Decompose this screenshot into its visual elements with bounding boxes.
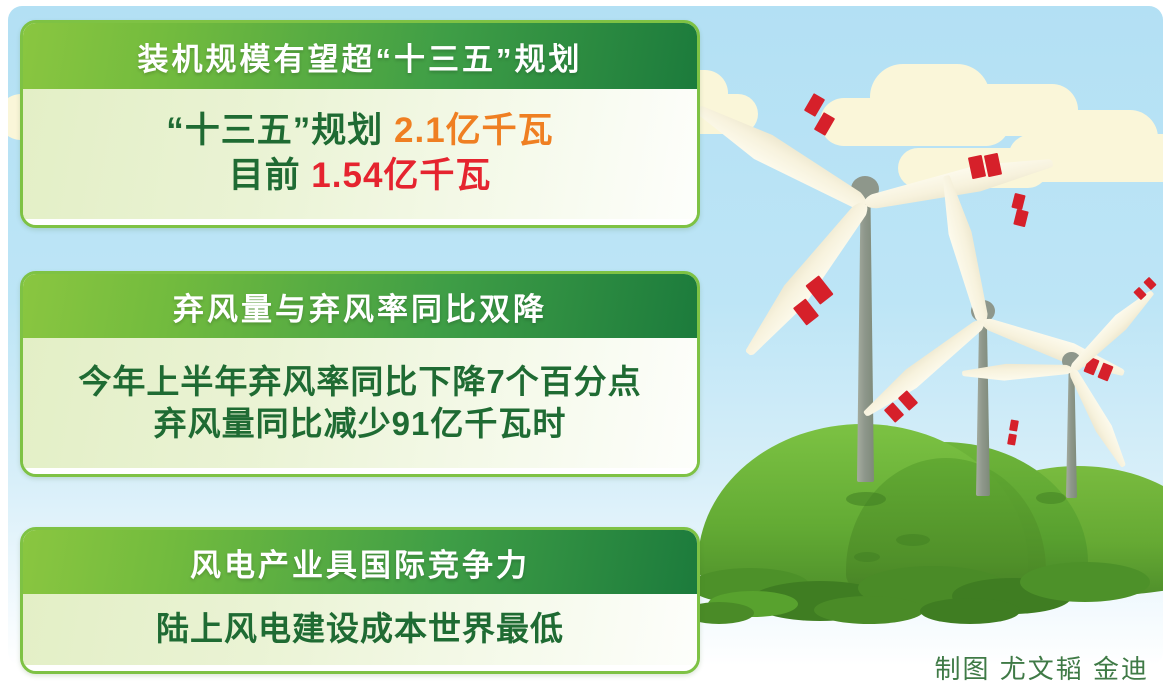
credit-text: 制图 尤文韬 金迪 <box>935 649 1149 686</box>
turbine-blade <box>1065 285 1159 377</box>
turbine-blade <box>962 360 1073 383</box>
infographic-root: 制图 尤文韬 金迪 装机规模有望超“十三五”规划 “十三五”规划 2.1亿千瓦 … <box>0 0 1171 694</box>
card-line: “十三五”规划 2.1亿千瓦 <box>166 109 553 154</box>
blade-stripe <box>1009 419 1019 431</box>
card-title: 装机规模有望超“十三五”规划 <box>23 23 697 89</box>
stat-card-curtailment: 弃风量与弃风率同比双降 今年上半年弃风率同比下降7个百分点 弃风量同比减少91亿… <box>20 271 700 477</box>
card-body: 今年上半年弃风率同比下降7个百分点 弃风量同比减少91亿千瓦时 <box>23 338 697 468</box>
card-title: 弃风量与弃风率同比双降 <box>23 274 697 338</box>
card-body: 陆上风电建设成本世界最低 <box>23 594 697 665</box>
card-line-prefix: 目前 <box>229 156 312 195</box>
stat-card-competitiveness: 风电产业具国际竞争力 陆上风电建设成本世界最低 <box>20 527 700 674</box>
card-line: 陆上风电建设成本世界最低 <box>156 608 564 650</box>
card-line: 弃风量同比减少91亿千瓦时 <box>154 403 567 445</box>
card-line-value: 1.54亿千瓦 <box>311 156 491 195</box>
card-body: “十三五”规划 2.1亿千瓦 目前 1.54亿千瓦 <box>23 89 697 219</box>
card-line-value: 2.1亿千瓦 <box>394 111 554 150</box>
stat-card-installed-capacity: 装机规模有望超“十三五”规划 “十三五”规划 2.1亿千瓦 目前 1.54亿千瓦 <box>20 20 700 228</box>
card-line-prefix: “十三五”规划 <box>166 111 394 150</box>
blade-stripe <box>1007 433 1017 445</box>
card-line: 今年上半年弃风率同比下降7个百分点 <box>78 361 641 403</box>
card-title: 风电产业具国际竞争力 <box>23 530 697 594</box>
card-line: 目前 1.54亿千瓦 <box>229 154 492 199</box>
